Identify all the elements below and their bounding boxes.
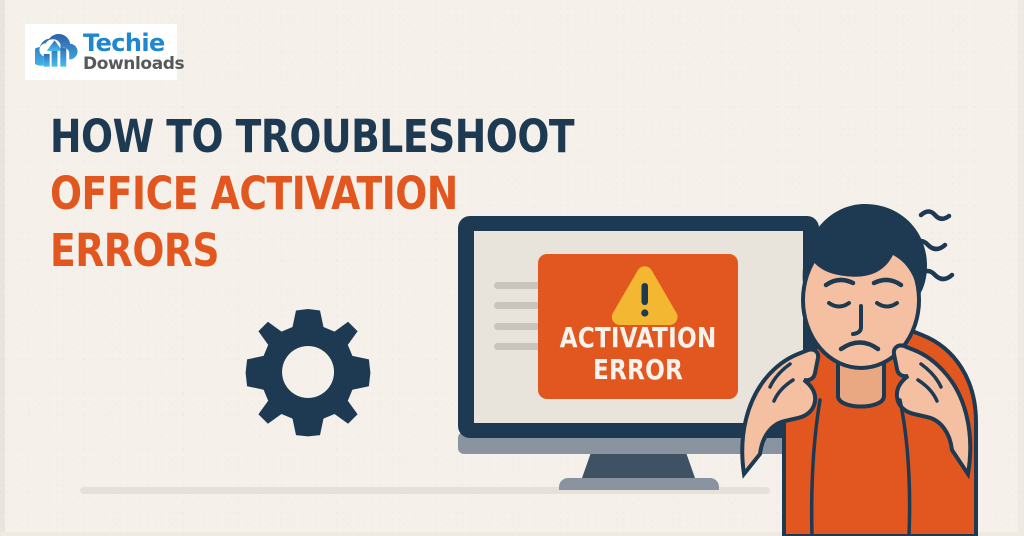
- monitor-base: [559, 478, 719, 490]
- headline: HOW TO TROUBLESHOOT OFFICE ACTIVATION ER…: [50, 108, 590, 279]
- logo-name-bottom: Downloads: [83, 56, 184, 73]
- site-logo[interactable]: Techie Downloads: [25, 24, 177, 80]
- headline-line-1: HOW TO TROUBLESHOOT: [50, 108, 552, 165]
- cloud-upload-icon: [35, 32, 78, 72]
- banner-canvas: HOW TO TROUBLESHOOT OFFICE ACTIVATION ER…: [0, 0, 1024, 536]
- logo-name-top: Techie: [83, 31, 184, 55]
- gear-icon: [238, 305, 378, 439]
- headline-line-3: ERRORS: [50, 222, 552, 279]
- headline-line-2: OFFICE ACTIVATION: [50, 165, 552, 222]
